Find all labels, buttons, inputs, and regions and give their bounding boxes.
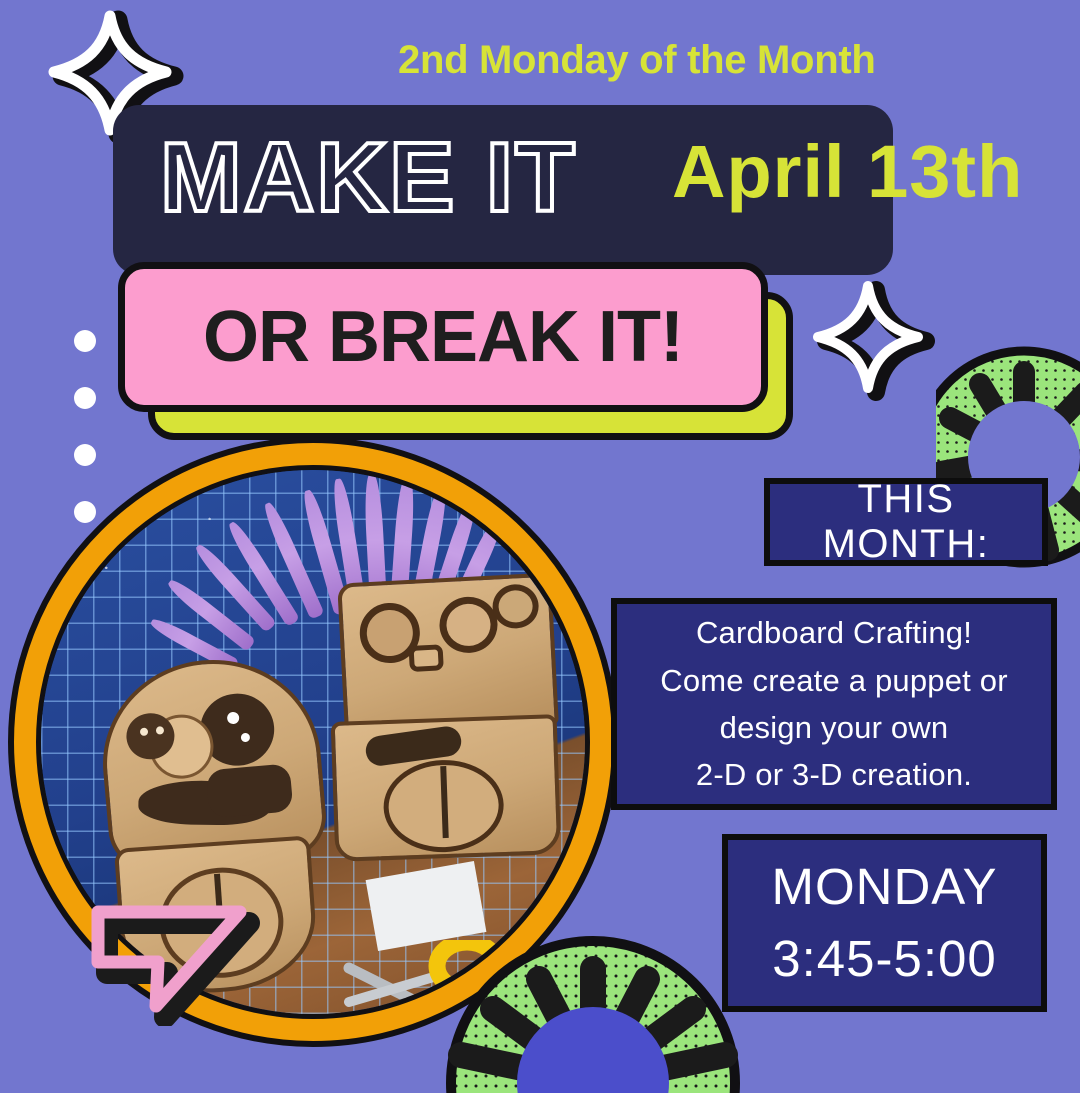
- dot: [74, 387, 96, 409]
- puppet-head-right: [337, 573, 559, 736]
- this-month-label: THIS MONTH:: [770, 477, 1042, 567]
- page-title: MAKE IT: [160, 128, 577, 226]
- event-date: April 13th: [672, 135, 1023, 209]
- description-box: Cardboard Crafting! Come create a puppet…: [611, 598, 1057, 810]
- dot: [74, 330, 96, 352]
- banner: OR BREAK IT!: [118, 262, 768, 412]
- description-line: 2-D or 3-D creation.: [696, 751, 972, 798]
- event-day: MONDAY: [771, 851, 997, 923]
- description-line: Come create a puppet or: [660, 657, 1008, 704]
- description-line: design your own: [720, 704, 949, 751]
- time-box: MONDAY 3:45-5:00: [722, 834, 1047, 1012]
- event-time: 3:45-5:00: [772, 923, 997, 995]
- this-month-box: THIS MONTH:: [764, 478, 1048, 566]
- puppet-mouth-right: [331, 714, 562, 862]
- poster-canvas: 2nd Monday of the Month MAKE IT April 13…: [0, 0, 1080, 1080]
- banner-label: OR BREAK IT!: [203, 296, 683, 378]
- kicker-text: 2nd Monday of the Month: [398, 38, 875, 83]
- zigzag-arrow-icon: [72, 886, 272, 1031]
- description-line: Cardboard Crafting!: [696, 609, 972, 656]
- sunburst-ring-icon: [443, 893, 743, 1093]
- four-point-sparkle-icon: [806, 278, 936, 403]
- dot: [74, 444, 96, 466]
